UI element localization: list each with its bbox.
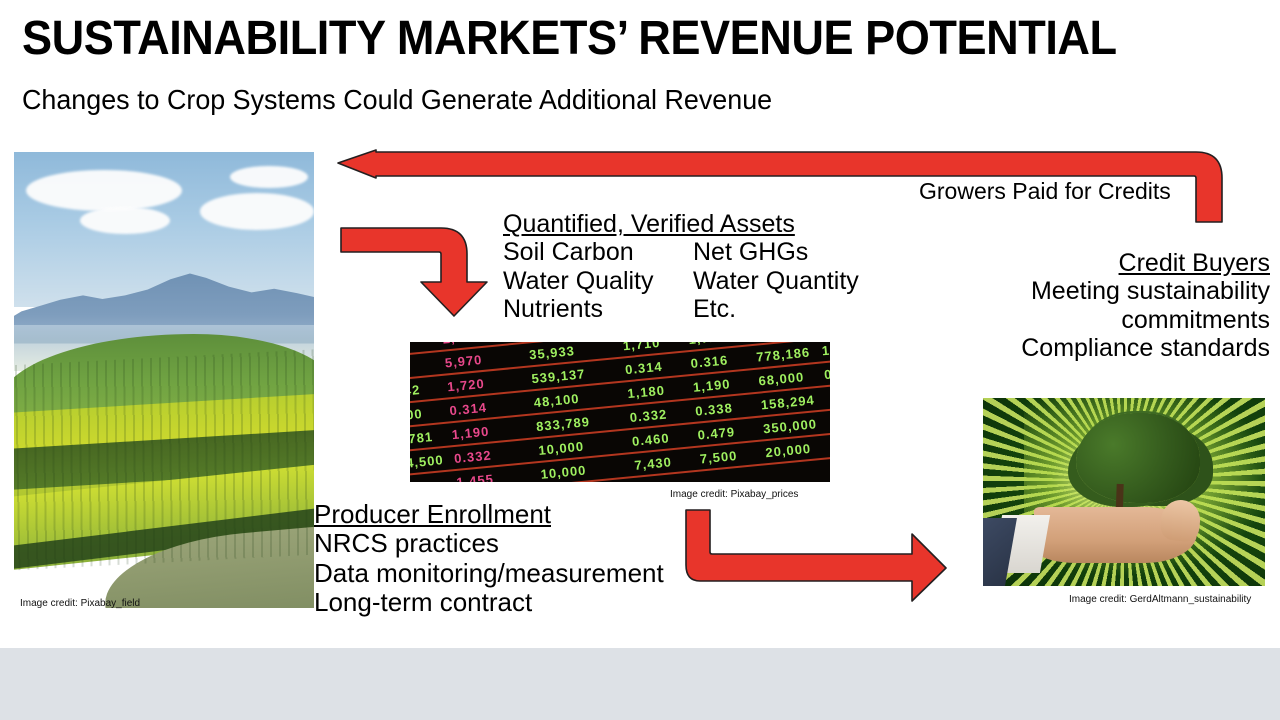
- assets-column-right: Net GHGs Water Quantity Etc.: [693, 238, 893, 323]
- price-cell: 833,789: [535, 414, 590, 434]
- sustainability-photo-credit: Image credit: GerdAltmann_sustainability: [1069, 594, 1251, 605]
- assets-block: Quantified, Verified Assets Soil Carbon …: [503, 210, 893, 323]
- price-cell: 1,710: [622, 342, 661, 354]
- producer-item: Data monitoring/measurement: [314, 559, 664, 588]
- page-title: SUSTAINABILITY MARKETS’ REVENUE POTENTIA…: [22, 14, 1178, 64]
- growers-paid-label: Growers Paid for Credits: [919, 178, 1171, 205]
- prices-photo: 92,4005,9709,9961,1955,97035,9331,7101,7…: [410, 342, 830, 482]
- assets-item: Net GHGs: [693, 238, 893, 266]
- price-cell: 2,400: [442, 342, 481, 347]
- price-cell: ,542: [410, 382, 421, 400]
- price-cell: 48,100: [533, 391, 580, 410]
- price-cell: 35,933: [528, 343, 575, 362]
- credit-buyers-item: commitments: [930, 306, 1270, 334]
- producer-item: Long-term contract: [314, 588, 664, 617]
- price-cell: 778,186: [755, 345, 810, 365]
- price-cell: ,900: [410, 406, 423, 424]
- producer-enrollment-block: Producer Enrollment NRCS practices Data …: [314, 500, 664, 618]
- price-cell: 1,180: [627, 383, 666, 402]
- prices-photo-credit: Image credit: Pixabay_prices: [670, 489, 798, 500]
- producer-item: NRCS practices: [314, 529, 664, 558]
- assets-item: Etc.: [693, 295, 893, 323]
- price-cell: 0.314: [449, 400, 488, 419]
- price-cell: 0.332: [629, 407, 668, 426]
- crop-rows-texture: [14, 348, 314, 573]
- assets-column-left: Soil Carbon Water Quality Nutrients: [503, 238, 693, 323]
- assets-item: Water Quantity: [693, 267, 893, 295]
- price-cell: 0.314: [624, 359, 663, 378]
- price-cell: 350,000: [762, 416, 817, 436]
- price-cell: 0.332: [453, 448, 492, 467]
- price-cell: 68,000: [758, 369, 805, 388]
- assets-item: Nutrients: [503, 295, 693, 323]
- sustainability-photo: [983, 398, 1265, 586]
- tree-canopy: [1076, 413, 1200, 503]
- price-cell: 158,294: [760, 393, 815, 413]
- cloud-icon: [26, 170, 182, 211]
- assets-item: Water Quality: [503, 267, 693, 295]
- arrow-enrollment-to-assets: [341, 228, 487, 316]
- credit-buyers-item: Compliance standards: [930, 334, 1270, 362]
- assets-heading: Quantified, Verified Assets: [503, 210, 893, 238]
- page-subtitle: Changes to Crop Systems Could Generate A…: [22, 84, 1174, 116]
- price-cell: 5,970: [444, 352, 483, 371]
- credit-buyers-item: Meeting sustainability: [930, 277, 1270, 305]
- price-cell: 1: [821, 343, 830, 359]
- arrow-assets-to-buyers: [686, 510, 946, 601]
- assets-item: Soil Carbon: [503, 238, 693, 266]
- price-cell: 0.460: [631, 431, 670, 450]
- price-cell: 0.338: [694, 400, 733, 419]
- price-cell: 10,000: [538, 439, 585, 458]
- producer-heading: Producer Enrollment: [314, 500, 551, 529]
- price-cell: 10,000: [540, 463, 587, 482]
- price-cell: 1,455: [456, 472, 495, 482]
- prices-board: 92,4005,9709,9961,1955,97035,9331,7101,7…: [410, 342, 830, 482]
- price-cell: 1,190: [451, 424, 490, 443]
- credit-buyers-heading: Credit Buyers: [1119, 249, 1270, 277]
- price-cell: 0.316: [690, 353, 729, 372]
- slide-canvas: SUSTAINABILITY MARKETS’ REVENUE POTENTIA…: [0, 0, 1280, 720]
- price-cell: 1,190: [692, 377, 731, 396]
- cloud-icon: [200, 193, 314, 229]
- field-photo-credit: Image credit: Pixabay_field: [20, 598, 140, 609]
- price-cell: 7,500: [699, 448, 738, 467]
- price-cell: 0.479: [697, 424, 736, 443]
- cloud-icon: [80, 207, 170, 234]
- price-cell: 1,720: [688, 342, 727, 347]
- footer-bar: AMERICAN FARM BUREAU FEDERATION® www.fb.…: [0, 648, 1280, 720]
- price-cell: 0: [823, 367, 830, 383]
- field-photo: [14, 152, 314, 608]
- price-cell: 44,500: [410, 452, 444, 471]
- price-cell: 20,000: [765, 441, 812, 460]
- price-cell: 7,430: [633, 455, 672, 474]
- price-cell: 1,720: [446, 376, 485, 395]
- credit-buyers-block: Credit Buyers Meeting sustainability com…: [930, 249, 1270, 362]
- price-cell: 539,137: [531, 366, 586, 386]
- price-cell: 0,781: [410, 429, 434, 448]
